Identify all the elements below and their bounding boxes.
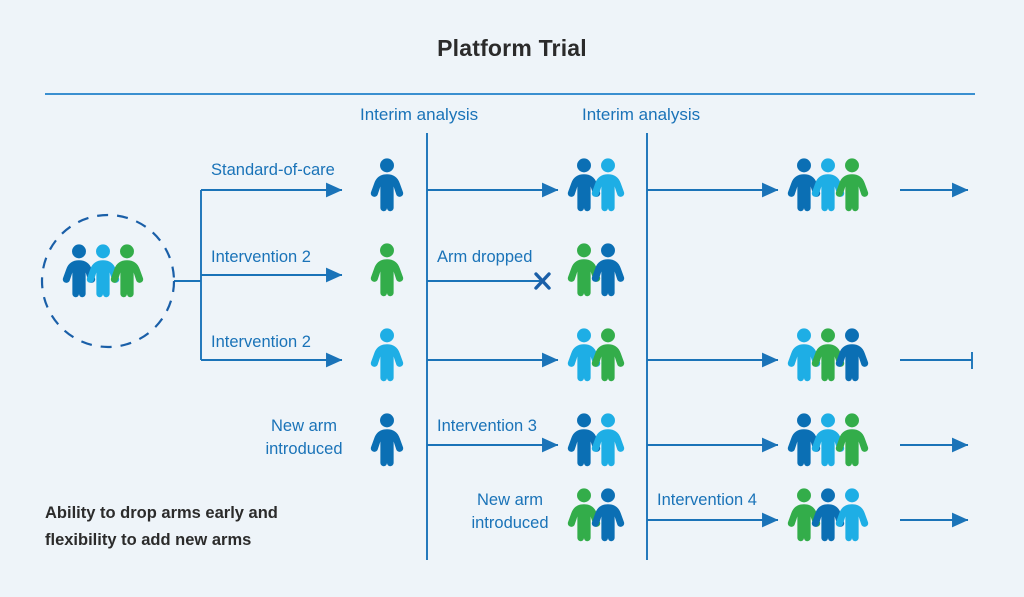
person-figure-dark-blue <box>591 242 625 302</box>
arm3-stage3-figures <box>787 327 869 382</box>
person-figure-dark-blue <box>835 327 869 387</box>
person-icon <box>835 157 869 212</box>
arm5-stage3-figures <box>787 487 869 542</box>
person-figure-green <box>110 243 144 303</box>
person-icon <box>591 487 625 542</box>
person-figure-light-blue <box>835 487 869 547</box>
person-icon <box>835 412 869 467</box>
person-icon <box>591 242 625 297</box>
person-figure-green <box>370 242 404 302</box>
label-arm2-entry: Intervention 2 <box>211 246 311 269</box>
person-icon <box>110 243 144 298</box>
person-icon <box>835 327 869 382</box>
label-arm4-entry: New arm introduced <box>249 415 359 462</box>
label-arm5-stage2: New arm introduced <box>455 489 565 536</box>
label-arm4-stage2: Intervention 3 <box>437 415 537 438</box>
person-icon <box>370 412 404 467</box>
person-figure-light-blue <box>370 327 404 387</box>
person-figure-green <box>835 157 869 217</box>
diagram-canvas: Platform Trial <box>0 0 1024 597</box>
arm2-stage2-figures <box>567 242 625 297</box>
arm4-stage2-figures <box>567 412 625 467</box>
arm1-stage1-figures <box>370 157 404 212</box>
arm2-stage1-figures <box>370 242 404 297</box>
person-icon <box>591 157 625 212</box>
person-icon <box>370 242 404 297</box>
person-icon <box>591 327 625 382</box>
person-figure-dark-blue <box>370 157 404 217</box>
person-figure-light-blue <box>591 157 625 217</box>
label-arm2-stage2: Arm dropped <box>437 246 532 269</box>
label-arm5-stage3: Intervention 4 <box>657 489 757 512</box>
person-icon <box>835 487 869 542</box>
arm1-stage3-figures <box>787 157 869 212</box>
person-figure-dark-blue <box>370 412 404 472</box>
arm5-stage2-figures <box>567 487 625 542</box>
diagram-caption: Ability to drop arms early and flexibili… <box>45 500 375 553</box>
person-figure-green <box>835 412 869 472</box>
person-figure-dark-blue <box>591 487 625 547</box>
enrollment-figures <box>62 243 144 298</box>
arm3-stage1-figures <box>370 327 404 382</box>
person-icon <box>591 412 625 467</box>
person-figure-light-blue <box>591 412 625 472</box>
interim-label-2: Interim analysis <box>582 105 700 125</box>
interim-label-1: Interim analysis <box>360 105 478 125</box>
arm4-stage3-figures <box>787 412 869 467</box>
arm1-stage2-figures <box>567 157 625 212</box>
label-arm1-entry: Standard-of-care <box>211 159 335 182</box>
label-arm3-entry: Intervention 2 <box>211 331 311 354</box>
person-icon <box>370 327 404 382</box>
arm3-stage2-figures <box>567 327 625 382</box>
arm4-stage1-figures <box>370 412 404 467</box>
person-icon <box>370 157 404 212</box>
person-figure-green <box>591 327 625 387</box>
